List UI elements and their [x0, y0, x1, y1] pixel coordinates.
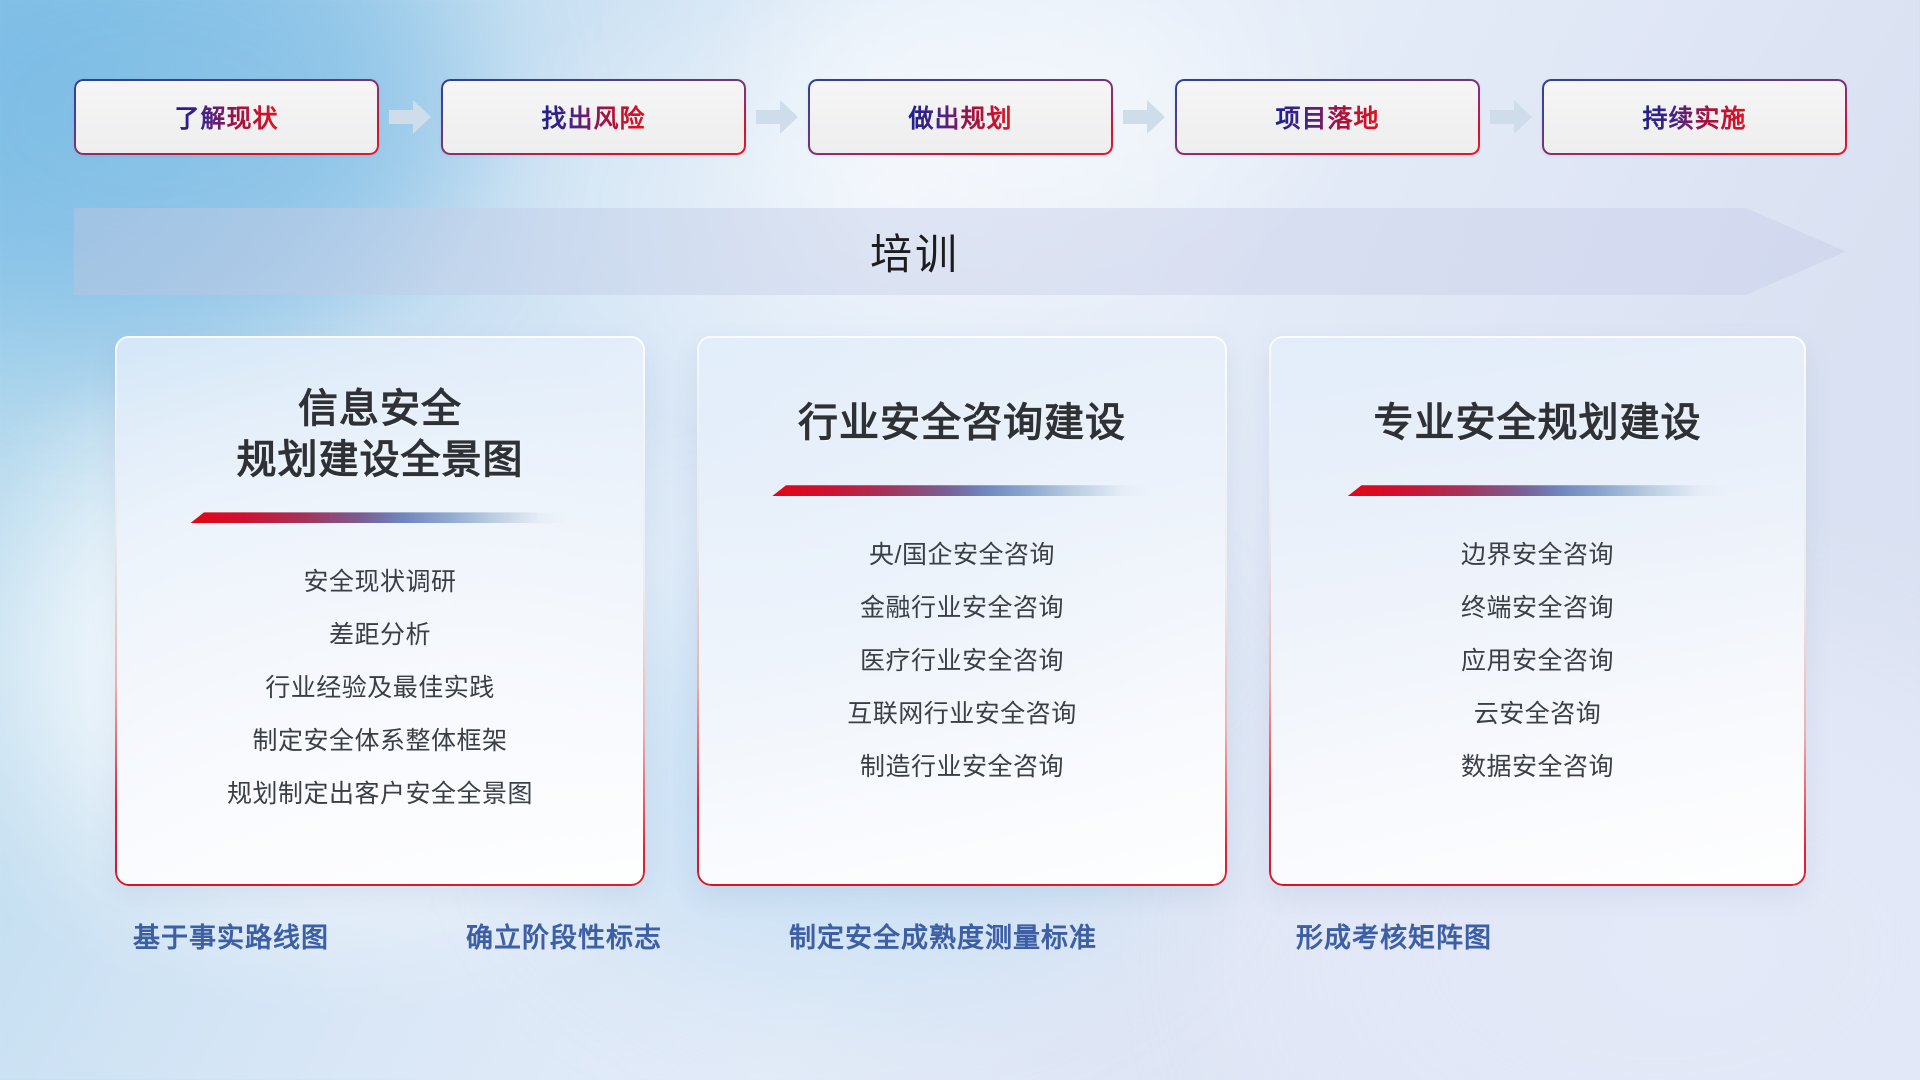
background-glow-top-left: [0, 0, 460, 350]
card-header: 行业安全咨询建设: [697, 336, 1227, 449]
list-item: 应用安全咨询: [1269, 649, 1806, 674]
card-item-list: 央/国企安全咨询 金融行业安全咨询 医疗行业安全咨询 互联网行业安全咨询 制造行…: [697, 543, 1227, 780]
card-row: 信息安全 规划建设全景图 安全现状调研 差距分析 行业经验及最佳实践 制定安全体…: [0, 336, 1920, 886]
arrow-right-icon: [1113, 79, 1175, 155]
banner-title: 培训: [74, 208, 1846, 295]
card-divider: [190, 512, 570, 524]
process-step-4[interactable]: 项目落地: [1175, 79, 1480, 155]
arrow-right-icon: [746, 79, 808, 155]
process-step-row: 了解现状 找出风险 做出规划 项目落地 持续实施: [74, 79, 1846, 155]
caption-row: 基于事实路线图 确立阶段性标志 制定安全成熟度测量标准 形成考核矩阵图: [0, 916, 1920, 962]
process-step-3[interactable]: 做出规划: [808, 79, 1113, 155]
card-industry-security-consulting[interactable]: 行业安全咨询建设 央/国企安全咨询 金融行业安全咨询 医疗行业安全咨询 互联网行…: [697, 336, 1227, 886]
list-item: 行业经验及最佳实践: [115, 676, 645, 701]
caption-maturity: 制定安全成熟度测量标准: [789, 916, 1097, 955]
caption-matrix: 形成考核矩阵图: [1296, 916, 1492, 955]
card-professional-security-planning[interactable]: 专业安全规划建设 边界安全咨询 终端安全咨询 应用安全咨询 云安全咨询 数据安全…: [1269, 336, 1806, 886]
process-step-5[interactable]: 持续实施: [1542, 79, 1847, 155]
card-title: 行业安全咨询建设: [697, 398, 1227, 449]
caption-roadmap: 基于事实路线图: [133, 916, 329, 955]
card-item-list: 边界安全咨询 终端安全咨询 应用安全咨询 云安全咨询 数据安全咨询: [1269, 543, 1806, 780]
process-step-label: 找出风险: [541, 99, 645, 135]
list-item: 差距分析: [115, 623, 645, 648]
list-item: 互联网行业安全咨询: [697, 702, 1227, 727]
card-divider: [1348, 485, 1728, 497]
arrow-right-icon: [379, 79, 441, 155]
process-step-label: 做出规划: [908, 99, 1012, 135]
card-divider: [772, 485, 1152, 497]
card-information-security-blueprint[interactable]: 信息安全 规划建设全景图 安全现状调研 差距分析 行业经验及最佳实践 制定安全体…: [115, 336, 645, 886]
list-item: 制造行业安全咨询: [697, 755, 1227, 780]
list-item: 央/国企安全咨询: [697, 543, 1227, 568]
card-title: 信息安全 规划建设全景图: [115, 384, 645, 486]
list-item: 终端安全咨询: [1269, 596, 1806, 621]
card-item-list: 安全现状调研 差距分析 行业经验及最佳实践 制定安全体系整体框架 规划制定出客户…: [115, 570, 645, 807]
list-item: 医疗行业安全咨询: [697, 649, 1227, 674]
list-item: 数据安全咨询: [1269, 755, 1806, 780]
list-item: 云安全咨询: [1269, 702, 1806, 727]
process-step-label: 项目落地: [1275, 99, 1379, 135]
list-item: 安全现状调研: [115, 570, 645, 595]
card-header: 专业安全规划建设: [1269, 336, 1806, 449]
process-step-label: 了解现状: [174, 99, 278, 135]
caption-milestone: 确立阶段性标志: [466, 916, 662, 955]
list-item: 金融行业安全咨询: [697, 596, 1227, 621]
card-title: 专业安全规划建设: [1269, 398, 1806, 449]
process-step-1[interactable]: 了解现状: [74, 79, 379, 155]
training-banner: 培训: [74, 208, 1846, 295]
process-step-label: 持续实施: [1642, 99, 1746, 135]
list-item: 边界安全咨询: [1269, 543, 1806, 568]
process-step-2[interactable]: 找出风险: [441, 79, 746, 155]
list-item: 制定安全体系整体框架: [115, 729, 645, 754]
list-item: 规划制定出客户安全全景图: [115, 782, 645, 807]
card-header: 信息安全 规划建设全景图: [115, 336, 645, 486]
arrow-right-icon: [1480, 79, 1542, 155]
